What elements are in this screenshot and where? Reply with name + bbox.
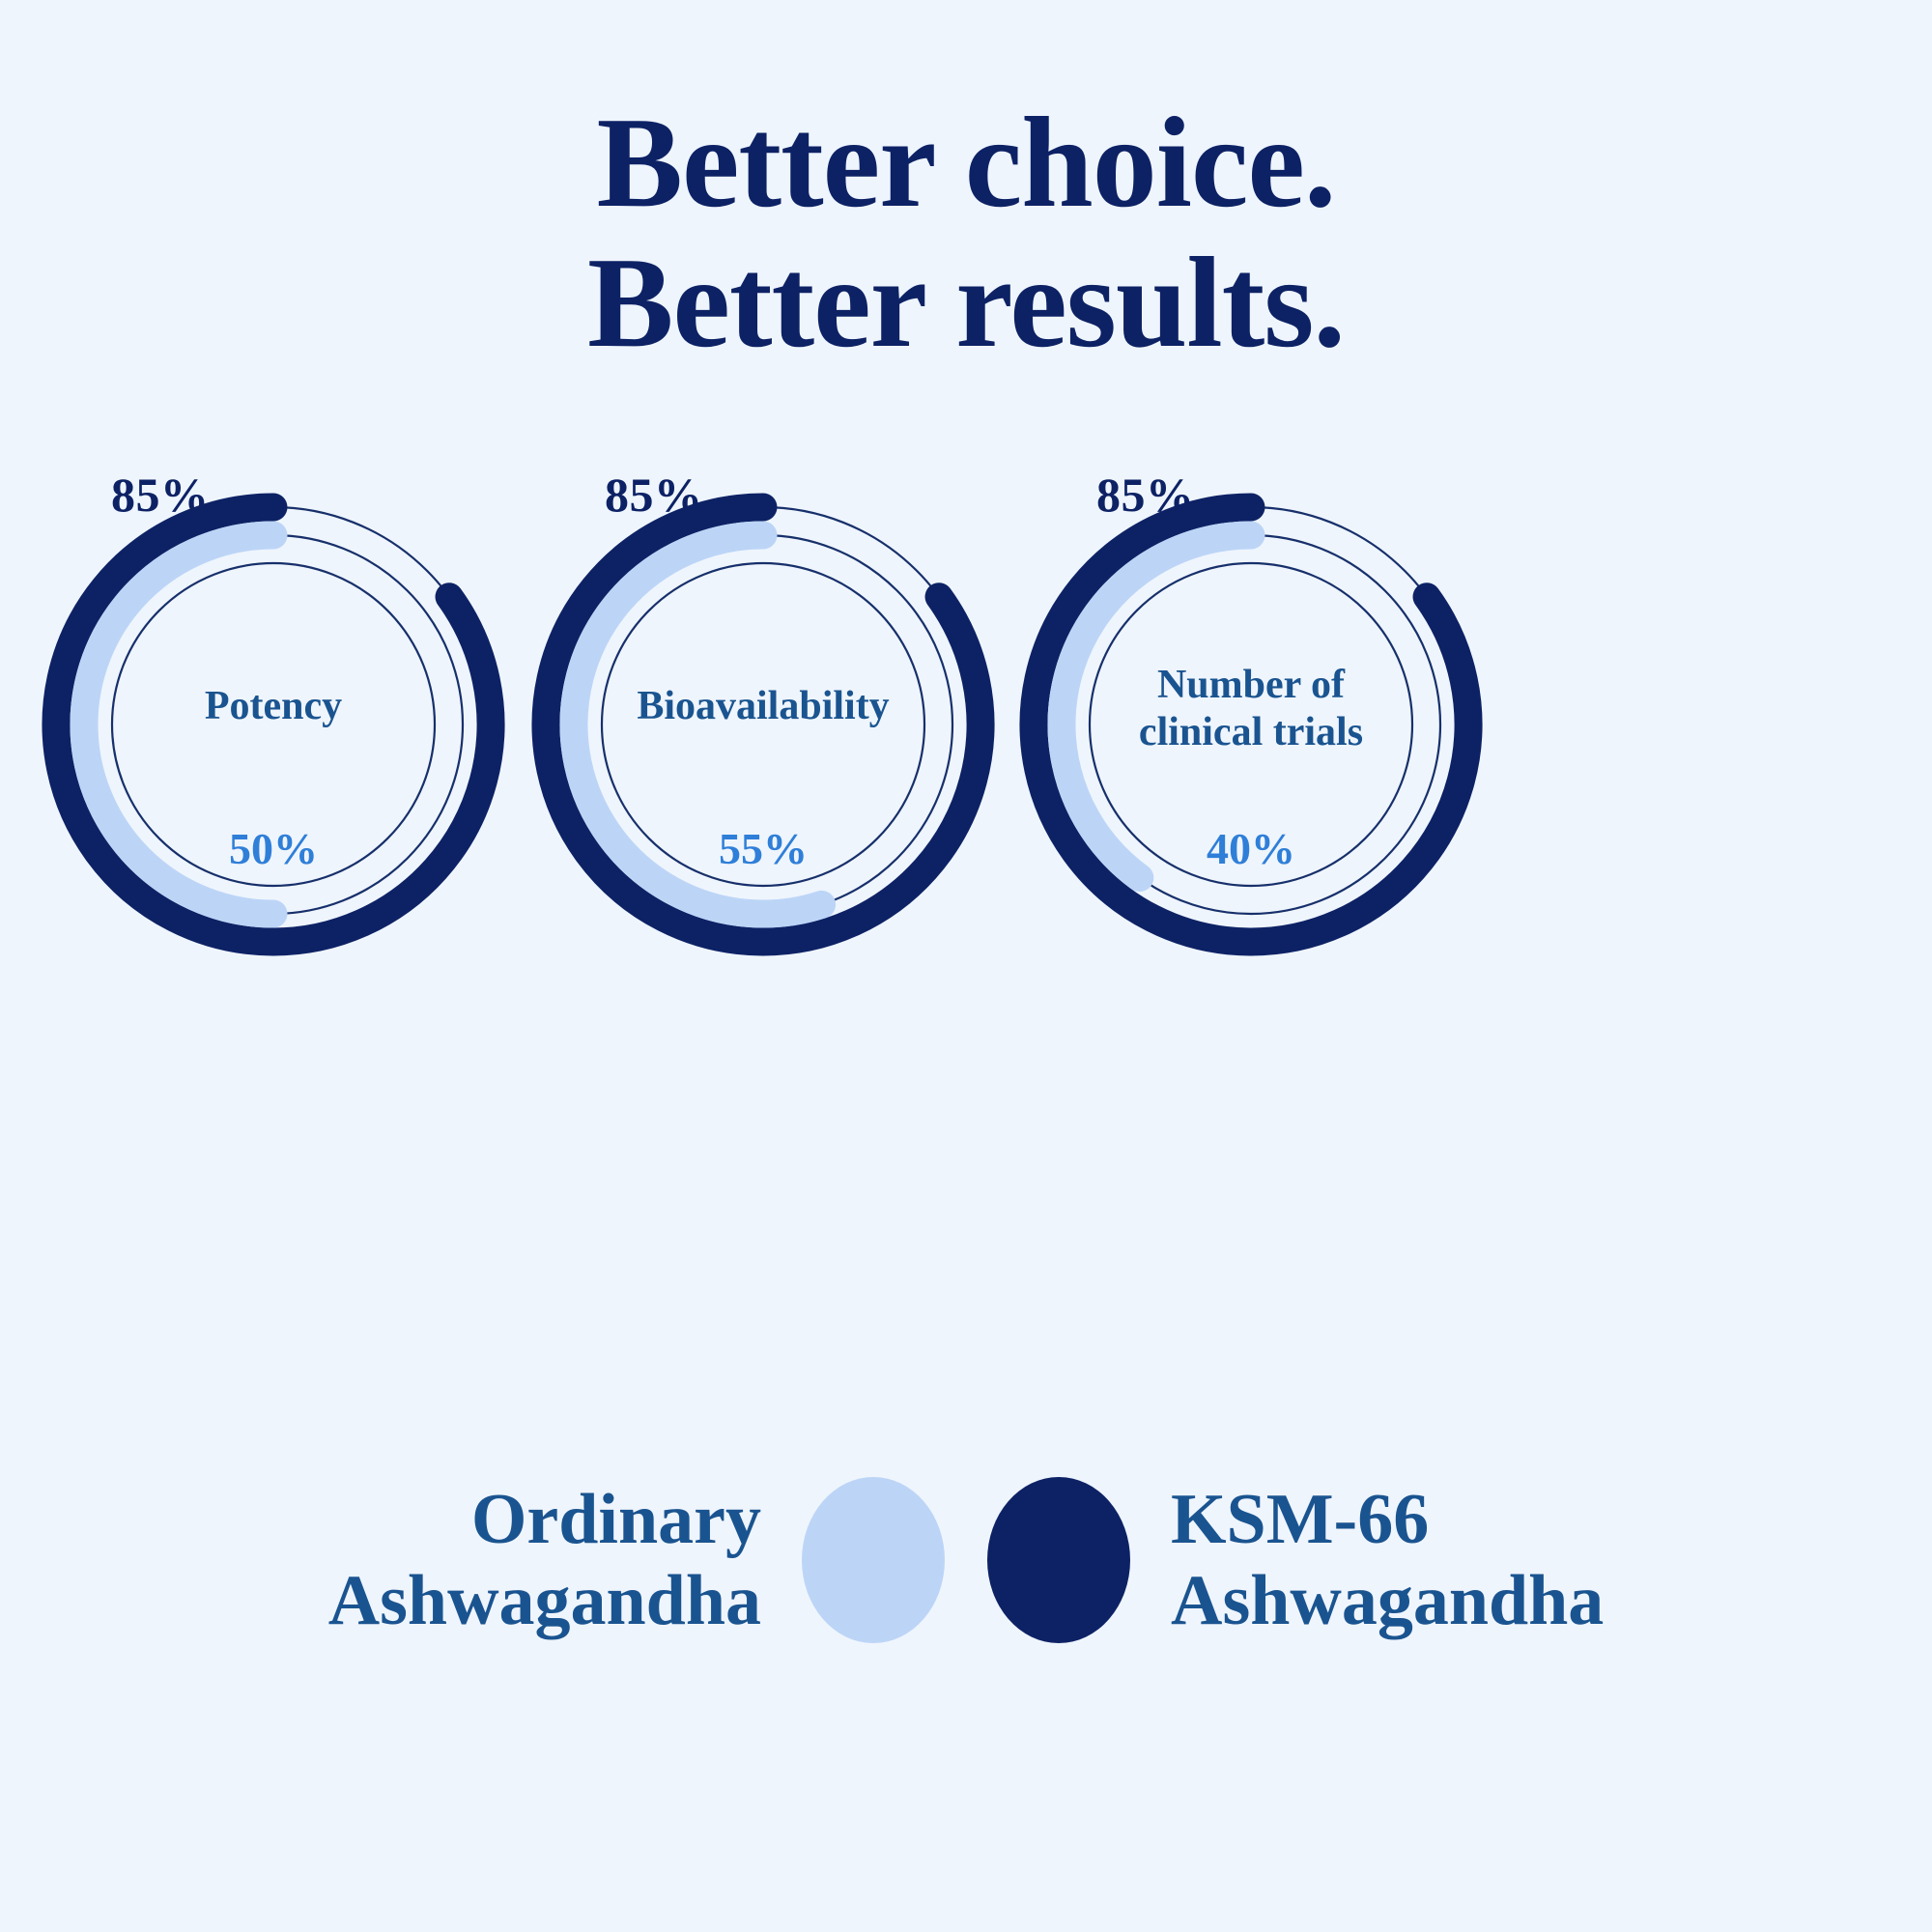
donut-label-potency: Potency <box>3 683 544 730</box>
outer-value-label-clinical-trials: 85% <box>1096 467 1195 523</box>
donut-chart-clinical-trials: 85% Number of clinical trials 40% <box>980 454 1521 995</box>
outer-value-label-potency: 85% <box>111 467 210 523</box>
inner-value-label-bioavailability: 55% <box>493 823 1034 874</box>
chart-legend: Ordinary Ashwagandha KSM-66 Ashwagandha <box>0 1420 1932 1700</box>
legend-label-ksm66-line-2: Ashwagandha <box>1171 1561 1604 1640</box>
donut-label-line-1: Number of <box>1157 663 1345 707</box>
donut-chart-potency: 85% Potency 50% <box>3 454 544 995</box>
outer-value-label-bioavailability: 85% <box>605 467 703 523</box>
donut-chart-bioavailability: 85% Bioavailability 55% <box>493 454 1034 995</box>
legend-label-ordinary-line-1: Ordinary <box>471 1480 761 1559</box>
title-line-2: Better results. <box>0 233 1932 373</box>
legend-label-ordinary: Ordinary Ashwagandha <box>328 1479 761 1642</box>
inner-value-label-clinical-trials: 40% <box>980 823 1521 874</box>
page-title: Better choice. Better results. <box>0 93 1932 372</box>
title-line-1: Better choice. <box>0 93 1932 233</box>
donut-label-bioavailability: Bioavailability <box>493 683 1034 730</box>
legend-label-ordinary-line-2: Ashwagandha <box>328 1561 761 1640</box>
legend-label-ksm66-line-1: KSM-66 <box>1171 1480 1429 1559</box>
donut-label-line-2: clinical trials <box>1139 710 1363 754</box>
inner-value-label-potency: 50% <box>3 823 544 874</box>
donut-label-clinical-trials: Number of clinical trials <box>980 662 1521 756</box>
infographic-page: Better choice. Better results. 85% Poten… <box>0 0 1932 1932</box>
donut-chart-row: 85% Potency 50% 85% Bioavailability 55% <box>0 454 1932 1034</box>
legend-swatch-ksm66-icon <box>987 1477 1130 1643</box>
legend-label-ksm66: KSM-66 Ashwagandha <box>1171 1479 1604 1642</box>
legend-swatch-ordinary-icon <box>802 1477 945 1643</box>
